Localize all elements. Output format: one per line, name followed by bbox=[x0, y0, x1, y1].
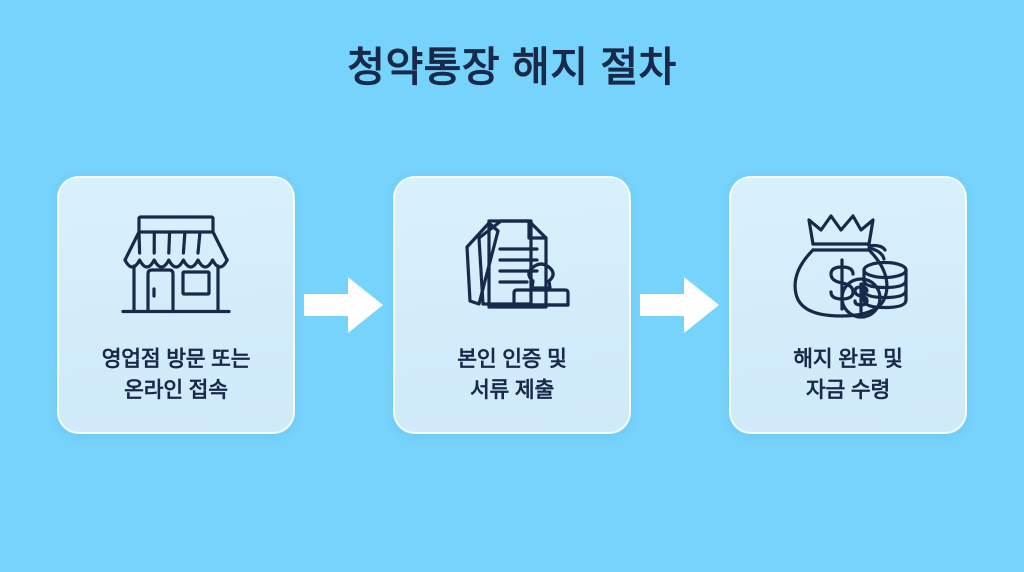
step-label-2-line1: 본인 인증 및 bbox=[457, 347, 566, 371]
arrow-right-icon bbox=[304, 276, 384, 334]
storefront-icon bbox=[110, 208, 242, 326]
step-label-2: 본인 인증 및 서류 제출 bbox=[404, 344, 620, 405]
step-label-1-line1: 영업점 방문 또는 bbox=[102, 347, 251, 371]
connector-arrow-1 bbox=[303, 274, 385, 336]
step-card-3[interactable]: 해지 완료 및 자금 수령 bbox=[729, 176, 967, 434]
step-label-3: 해지 완료 및 자금 수령 bbox=[740, 344, 956, 405]
documents-stamp-icon bbox=[446, 208, 578, 326]
step-label-1-line2: 온라인 접속 bbox=[68, 375, 284, 406]
page-title: 청약통장 해지 절차 bbox=[0, 44, 1024, 91]
step-label-1: 영업점 방문 또는 온라인 접속 bbox=[68, 344, 284, 405]
money-bag-coins-icon bbox=[782, 208, 914, 326]
step-label-2-line2: 서류 제출 bbox=[404, 375, 620, 406]
arrow-right-icon bbox=[640, 276, 720, 334]
connector-arrow-2 bbox=[639, 274, 721, 336]
step-card-2[interactable]: 본인 인증 및 서류 제출 bbox=[393, 176, 631, 434]
step-card-1[interactable]: 영업점 방문 또는 온라인 접속 bbox=[57, 176, 295, 434]
step-label-3-line2: 자금 수령 bbox=[740, 375, 956, 406]
infographic-slide: 청약통장 해지 절차 bbox=[0, 0, 1024, 572]
step-label-3-line1: 해지 완료 및 bbox=[793, 347, 902, 371]
process-flow: 영업점 방문 또는 온라인 접속 bbox=[57, 176, 967, 434]
